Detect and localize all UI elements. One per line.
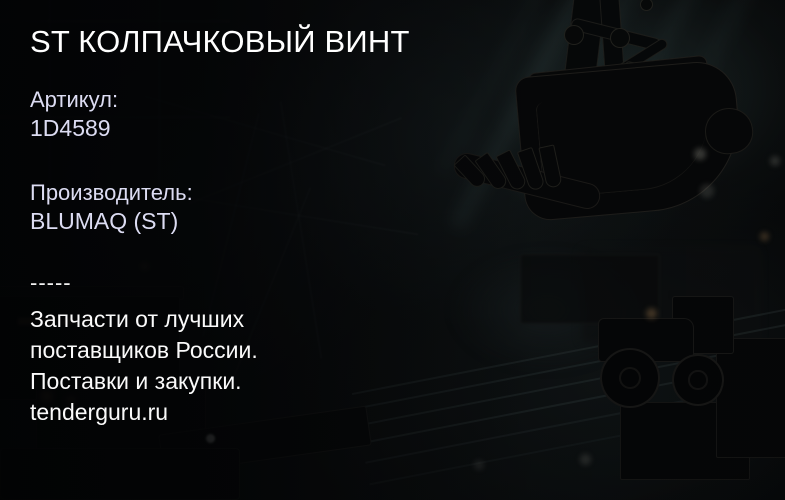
article-label: Артикул:	[30, 86, 118, 114]
product-banner: ST КОЛПАЧКОВЫЙ ВИНТ Артикул: 1D4589 Прои…	[0, 0, 785, 500]
article-field: Артикул: 1D4589	[30, 86, 118, 143]
promo-line-3: Поставки и закупки.	[30, 366, 258, 397]
article-value: 1D4589	[30, 114, 118, 143]
website-url: tenderguru.ru	[30, 397, 258, 428]
banner-content: ST КОЛПАЧКОВЫЙ ВИНТ Артикул: 1D4589 Прои…	[30, 0, 550, 500]
promo-text-block: Запчасти от лучших поставщиков России. П…	[30, 304, 258, 428]
manufacturer-field: Производитель: BLUMAQ (ST)	[30, 179, 193, 236]
manufacturer-label: Производитель:	[30, 179, 193, 207]
promo-line-2: поставщиков России.	[30, 335, 258, 366]
product-title: ST КОЛПАЧКОВЫЙ ВИНТ	[30, 24, 410, 60]
promo-line-1: Запчасти от лучших	[30, 304, 258, 335]
section-separator: -----	[30, 272, 72, 294]
manufacturer-value: BLUMAQ (ST)	[30, 207, 193, 236]
